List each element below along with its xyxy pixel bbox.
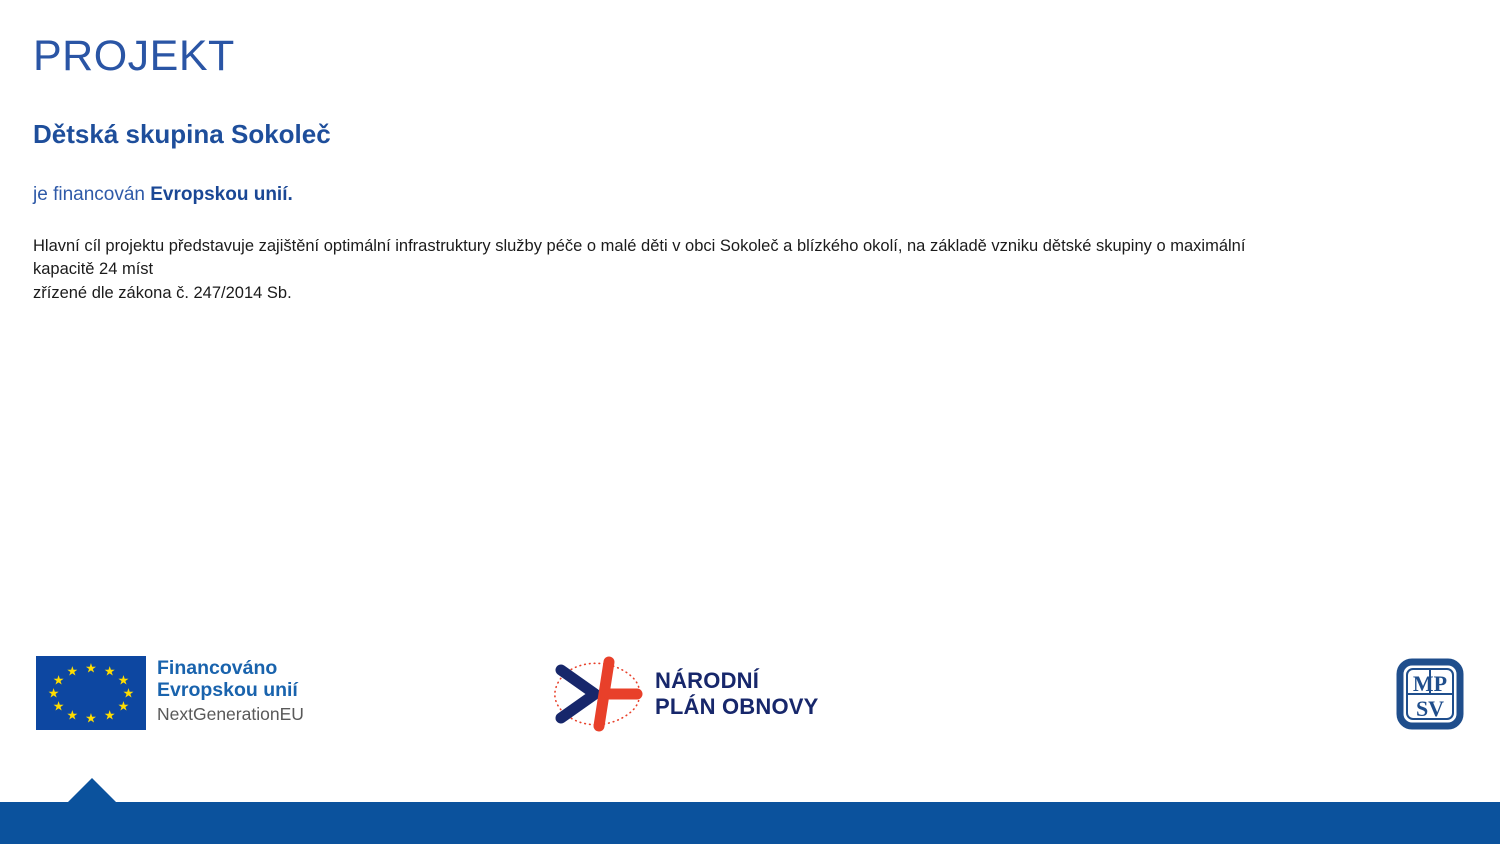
- eu-logo-line-2: Evropskou unií: [157, 679, 304, 701]
- eu-star-icon: ★: [85, 712, 97, 725]
- project-name-heading: Dětská skupina Sokoleč: [33, 120, 331, 150]
- page-title: PROJEKT: [33, 34, 235, 79]
- description-line-2: kapacitě 24 míst: [33, 258, 1423, 281]
- mpsv-text-sv: SV: [1416, 696, 1444, 721]
- funding-statement-prefix: je financován: [33, 184, 150, 205]
- mpsv-logo-icon: MP SV: [1396, 658, 1464, 730]
- description-line-3: zřízené dle zákona č. 247/2014 Sb.: [33, 282, 1423, 305]
- npo-logo-line-2: PLÁN OBNOVY: [655, 694, 819, 720]
- eu-star-icon: ★: [85, 661, 97, 674]
- eu-logo-text: Financováno Evropskou unií NextGeneratio…: [157, 656, 304, 725]
- npo-logo-line-1: NÁRODNÍ: [655, 668, 819, 694]
- bottom-blue-band: [0, 774, 1500, 844]
- eu-star-icon: ★: [66, 665, 78, 678]
- eu-star-icon: ★: [118, 699, 130, 712]
- mpsv-text-mp: MP: [1413, 671, 1447, 696]
- eu-star-icon: ★: [104, 665, 116, 678]
- project-description: Hlavní cíl projektu představuje zajištěn…: [33, 235, 1423, 305]
- eu-flag-icon: ★ ★ ★ ★ ★ ★ ★ ★ ★ ★ ★ ★: [36, 656, 146, 730]
- npo-logo-text: NÁRODNÍ PLÁN OBNOVY: [655, 668, 819, 719]
- npo-logo: NÁRODNÍ PLÁN OBNOVY: [543, 652, 819, 736]
- funding-statement: je financován Evropskou unií.: [33, 184, 293, 207]
- eu-star-icon: ★: [104, 708, 116, 721]
- eu-funding-logo: ★ ★ ★ ★ ★ ★ ★ ★ ★ ★ ★ ★ Financováno Evro…: [36, 656, 304, 730]
- funding-statement-emphasis: Evropskou unií.: [150, 184, 293, 205]
- npo-mark-icon: [543, 652, 647, 736]
- eu-star-icon: ★: [48, 687, 60, 700]
- description-line-1: Hlavní cíl projektu představuje zajištěn…: [33, 235, 1423, 258]
- eu-logo-line-3: NextGenerationEU: [157, 704, 304, 725]
- eu-star-icon: ★: [53, 699, 65, 712]
- eu-logo-line-1: Financováno: [157, 657, 304, 679]
- slide-canvas: PROJEKT Dětská skupina Sokoleč je financ…: [0, 0, 1500, 844]
- eu-star-icon: ★: [66, 708, 78, 721]
- logo-strip: ★ ★ ★ ★ ★ ★ ★ ★ ★ ★ ★ ★ Financováno Evro…: [0, 640, 1500, 750]
- eu-star-icon: ★: [53, 674, 65, 687]
